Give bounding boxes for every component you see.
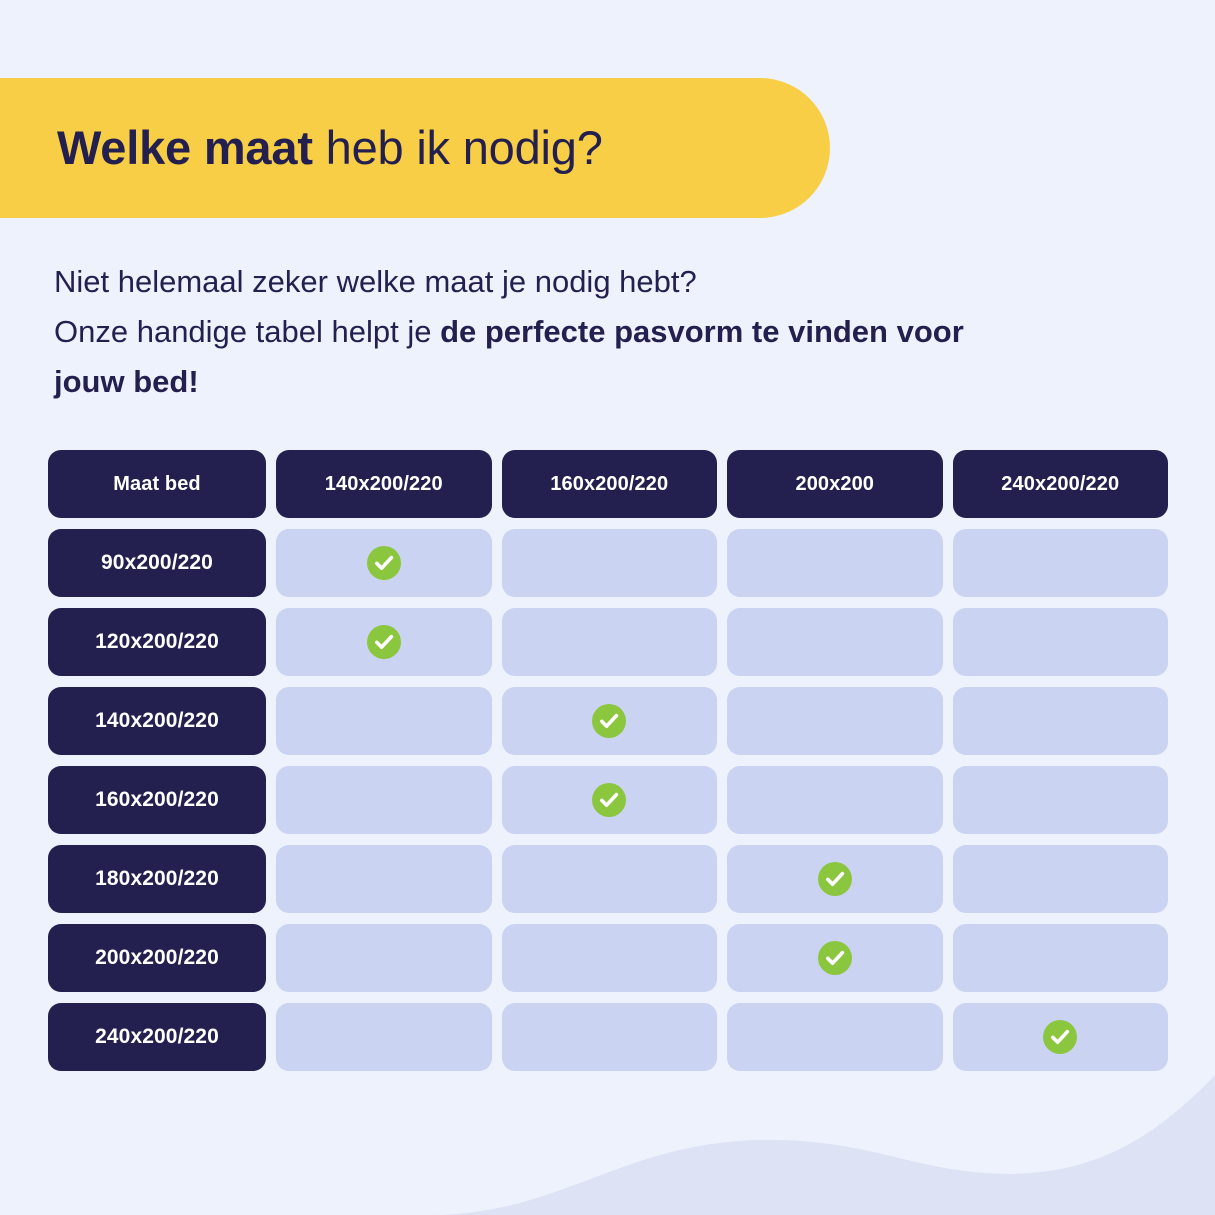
subtitle-text: Niet helemaal zeker welke maat je nodig … [54,257,1014,407]
table-cell [276,1003,492,1071]
subtitle-line-2-normal: Onze handige tabel helpt je [54,314,440,349]
row-label-90x200-220: 90x200/220 [48,529,266,597]
check-circle-icon [1043,1020,1077,1054]
table-cell [727,608,943,676]
table-row: 180x200/220 [48,845,1168,913]
check-circle-icon [592,783,626,817]
check-circle-icon [818,862,852,896]
table-cell [502,845,718,913]
row-label-160x200-220: 160x200/220 [48,766,266,834]
table-row: 240x200/220 [48,1003,1168,1071]
page-title-bold: Welke maat [57,121,313,174]
row-label-200x200-220: 200x200/220 [48,924,266,992]
table-row: 140x200/220 [48,687,1168,755]
subtitle-line-1: Niet helemaal zeker welke maat je nodig … [54,264,697,299]
check-circle-icon [818,941,852,975]
table-cell [276,845,492,913]
header-banner: Welke maat heb ik nodig? [0,78,830,218]
table-cell [276,687,492,755]
row-label-240x200-220: 240x200/220 [48,1003,266,1071]
table-header-row: Maat bed 140x200/220 160x200/220 200x200… [48,450,1168,518]
table-cell [953,608,1169,676]
column-header-200x200: 200x200 [727,450,943,518]
table-cell [953,845,1169,913]
table-cell [276,766,492,834]
table-cell [953,766,1169,834]
table-cell [953,529,1169,597]
table-row: 90x200/220 [48,529,1168,597]
table-cell [727,687,943,755]
column-header-140x200-220: 140x200/220 [276,450,492,518]
table-cell [276,529,492,597]
check-circle-icon [367,546,401,580]
table-cell [502,924,718,992]
table-row: 120x200/220 [48,608,1168,676]
table-cell [953,1003,1169,1071]
table-row: 200x200/220 [48,924,1168,992]
table-cell [502,608,718,676]
table-cell [727,924,943,992]
table-row: 160x200/220 [48,766,1168,834]
page-title: Welke maat heb ik nodig? [0,123,603,172]
table-cell [502,1003,718,1071]
column-header-240x200-220: 240x200/220 [953,450,1169,518]
check-circle-icon [592,704,626,738]
table-cell [276,924,492,992]
table-cell [276,608,492,676]
table-cell [502,766,718,834]
column-header-maat-bed: Maat bed [48,450,266,518]
table-cell [727,1003,943,1071]
row-label-180x200-220: 180x200/220 [48,845,266,913]
table-cell [727,845,943,913]
table-cell [502,529,718,597]
size-comparison-table: Maat bed 140x200/220 160x200/220 200x200… [48,450,1168,1071]
row-label-140x200-220: 140x200/220 [48,687,266,755]
table-cell [953,924,1169,992]
table-cell [502,687,718,755]
page-title-rest: heb ik nodig? [313,121,603,174]
column-header-160x200-220: 160x200/220 [502,450,718,518]
check-circle-icon [367,625,401,659]
table-cell [953,687,1169,755]
table-cell [727,766,943,834]
row-label-120x200-220: 120x200/220 [48,608,266,676]
table-cell [727,529,943,597]
